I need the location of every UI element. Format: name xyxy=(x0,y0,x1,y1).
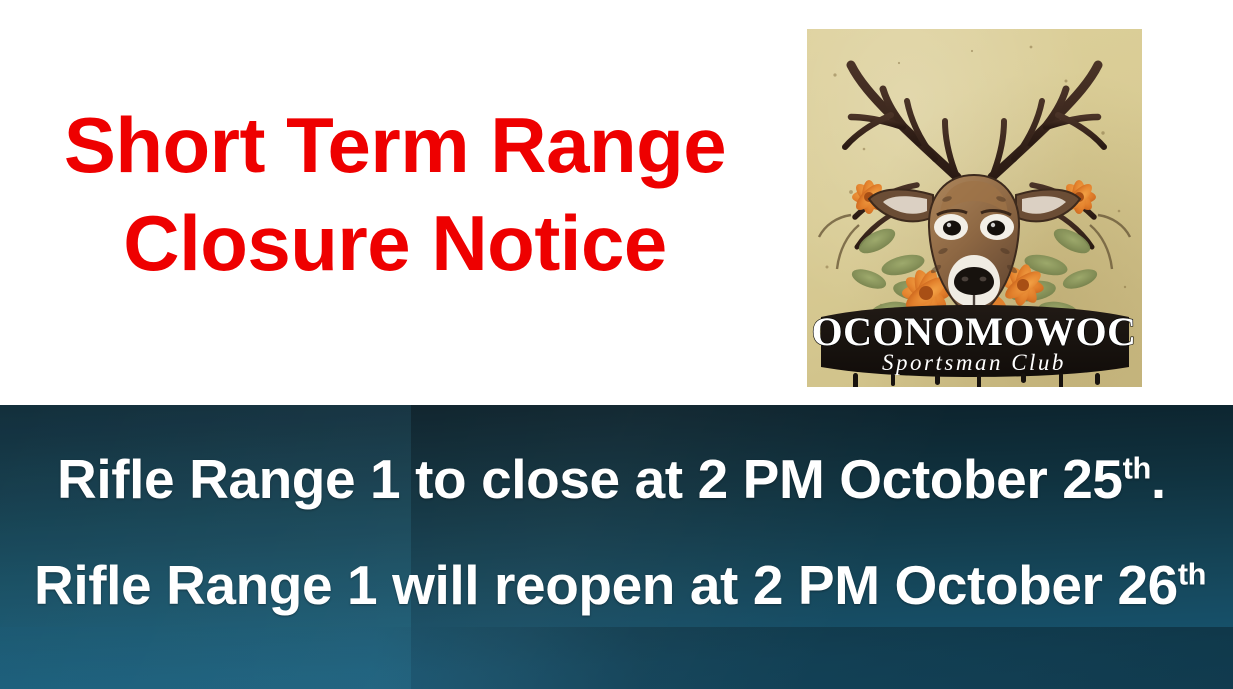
page-title: Short Term Range Closure Notice xyxy=(0,96,790,293)
title-line-2: Closure Notice xyxy=(0,194,790,292)
panel-lower-band xyxy=(0,627,1233,689)
oconomowoc-sportsman-club-logo: OCONOMOWOC Sportsman Club xyxy=(807,29,1142,387)
title-line-1: Short Term Range xyxy=(0,96,790,194)
range-closure-notice-slide: Short Term Range Closure Notice xyxy=(0,0,1233,689)
notice-line-2-ordinal: th xyxy=(1178,557,1206,592)
notice-line-1-ordinal: th xyxy=(1123,451,1151,486)
notice-line-1-suffix: . xyxy=(1151,448,1166,510)
notice-line-reopening: Rifle Range 1 will reopen at 2 PM Octobe… xyxy=(34,553,1206,617)
notice-line-closing: Rifle Range 1 to close at 2 PM October 2… xyxy=(57,447,1166,511)
club-name-text: OCONOMOWOC xyxy=(812,309,1137,354)
club-subtitle-text: Sportsman Club xyxy=(882,350,1066,375)
header-section: Short Term Range Closure Notice xyxy=(0,0,1233,405)
notice-line-1-text: Rifle Range 1 to close at 2 PM October 2… xyxy=(57,448,1123,510)
notice-line-2-text: Rifle Range 1 will reopen at 2 PM Octobe… xyxy=(34,554,1178,616)
